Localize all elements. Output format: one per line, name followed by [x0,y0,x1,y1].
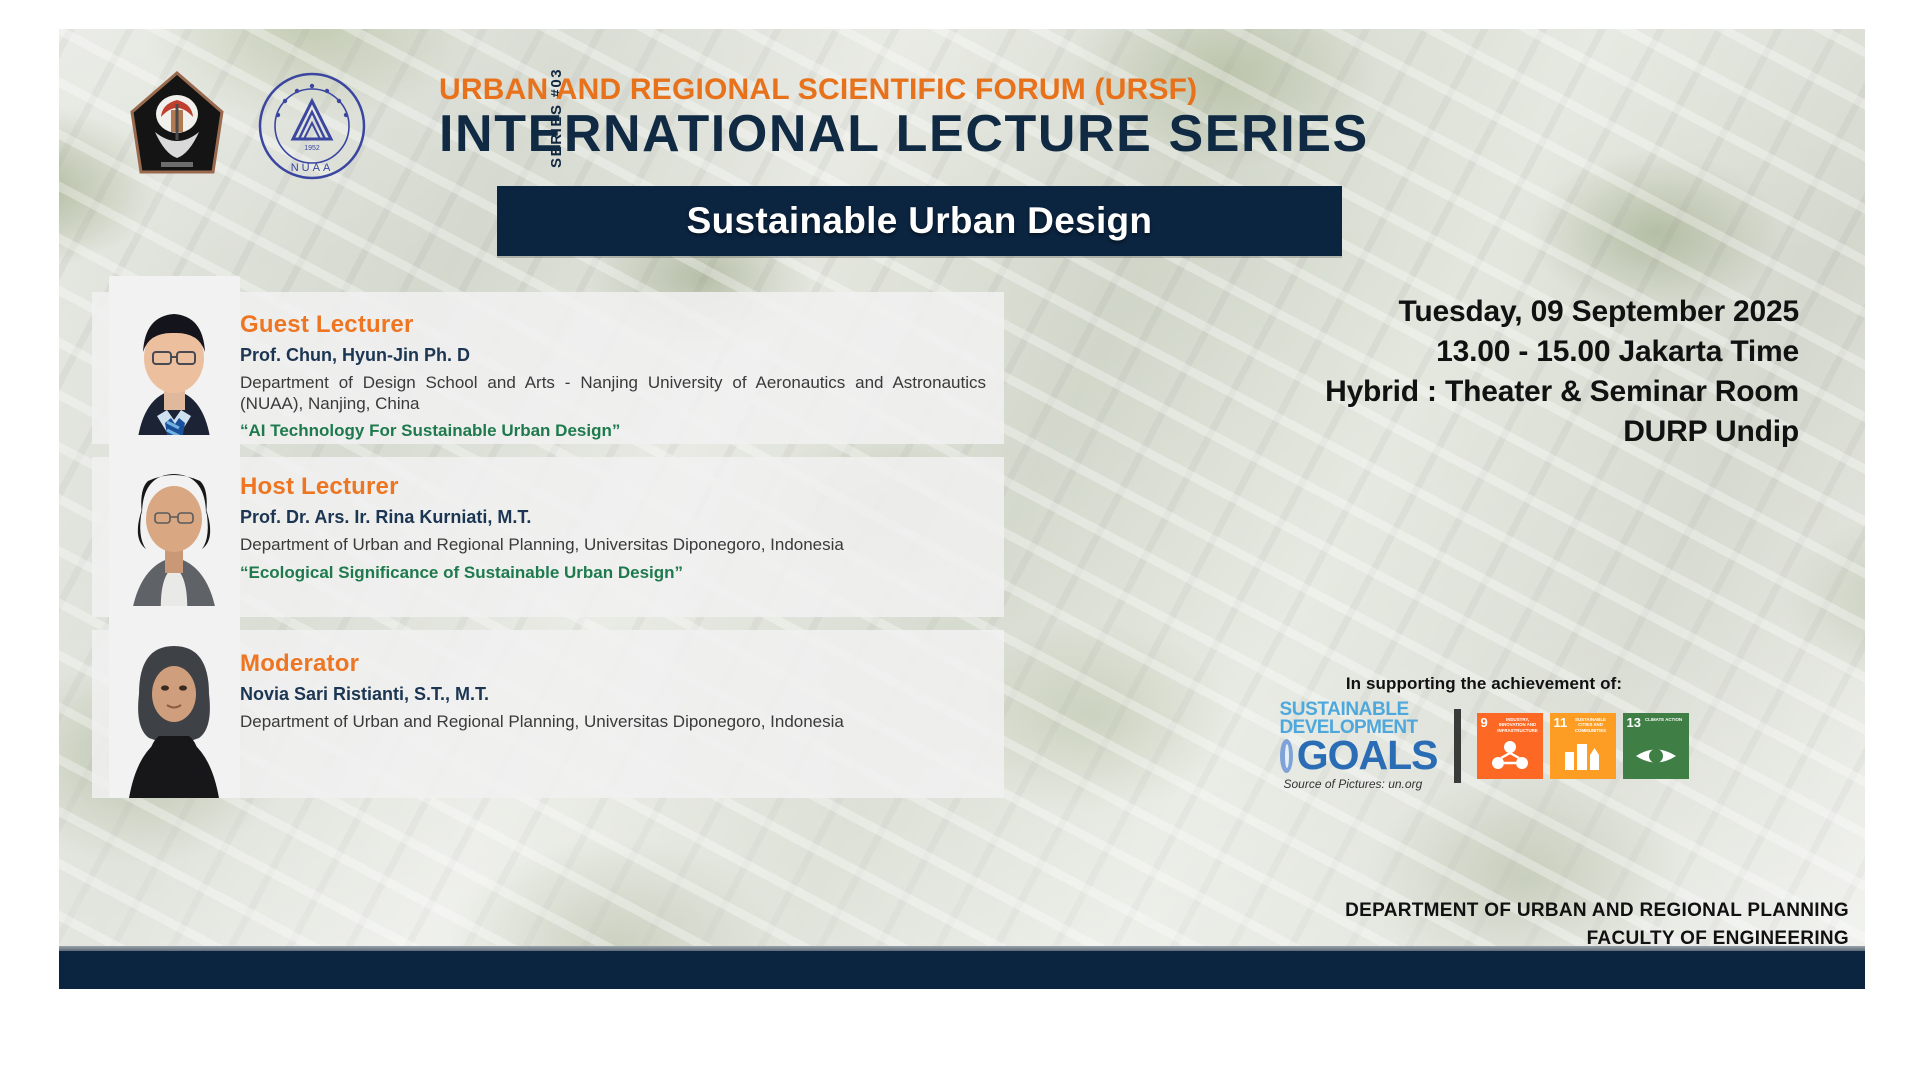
forum-kicker: URBAN AND REGIONAL SCIENTIFIC FORUM (URS… [439,74,1539,106]
sdg-goal-label: CLIMATE ACTION [1642,717,1686,722]
screenshot-canvas: 1952 NUAA SERIES #03 URBAN AND REGIONAL … [0,0,1921,1081]
poster-title: INTERNATIONAL LECTURE SERIES [439,108,1539,161]
speaker-name: Prof. Dr. Ars. Ir. Rina Kurniati, M.T. [240,507,986,528]
speaker-role: Host Lecturer [240,473,986,501]
svg-text:1952: 1952 [304,145,320,152]
footer-bar [59,951,1865,989]
speaker-affiliation: Department of Urban and Regional Plannin… [240,535,986,556]
nuaa-logo: 1952 NUAA [257,71,367,181]
sdg-goal-13-tile: 13 CLIMATE ACTION [1623,713,1689,779]
united-nations-emblem-icon [1280,739,1293,773]
sdg-goal-11-tile: 11 SUSTAINABLE CITIES AND COMMUNITIES [1550,713,1616,779]
sdg-logo-line3: GOALS [1280,737,1438,774]
sdg-goals-text: GOALS [1297,737,1438,774]
sdg-goal-number: 9 [1481,716,1488,729]
sdg-goal-label: SUSTAINABLE CITIES AND COMMUNITIES [1569,717,1613,733]
speaker-name: Prof. Chun, Hyun-Jin Ph. D [240,345,986,366]
speaker-details: Guest Lecturer Prof. Chun, Hyun-Jin Ph. … [240,292,1004,455]
sdg-goal-label: INDUSTRY, INNOVATION AND INFRASTRUCTURE [1496,717,1540,733]
event-date: Tuesday, 09 September 2025 [1049,292,1799,332]
speaker-photo-guest-lecturer [109,276,240,444]
sdg-heading: In supporting the achievement of: [1089,674,1865,694]
speaker-affiliation: Department of Urban and Regional Plannin… [240,712,986,733]
speaker-details: Moderator Novia Sari Ristianti, S.T., M.… [240,630,1004,754]
lecture-topic-banner: Sustainable Urban Design [497,186,1342,256]
sustainable-cities-icon [1550,738,1616,775]
climate-action-icon [1623,742,1689,775]
speaker-role: Guest Lecturer [240,311,986,339]
speaker-role: Moderator [240,650,986,678]
speaker-topic: “AI Technology For Sustainable Urban Des… [240,421,986,441]
speaker-affiliation: Department of Design School and Arts - N… [240,373,986,414]
event-venue: DURP Undip [1049,412,1799,452]
speaker-card-host-lecturer: Host Lecturer Prof. Dr. Ars. Ir. Rina Ku… [92,457,1004,617]
speaker-details: Host Lecturer Prof. Dr. Ars. Ir. Rina Ku… [240,457,1004,597]
industry-innovation-icon [1477,740,1543,775]
sdg-goal-tiles: 9 INDUSTRY, INNOVATION AND INFRASTRUCTUR… [1477,713,1689,779]
event-details-block: Tuesday, 09 September 2025 13.00 - 15.00… [1049,292,1849,452]
organizer-line-1: DEPARTMENT OF URBAN AND REGIONAL PLANNIN… [1049,897,1849,925]
speaker-photo-moderator [109,606,240,798]
speaker-card-list: Guest Lecturer Prof. Chun, Hyun-Jin Ph. … [92,292,1004,811]
sdg-row: SUSTAINABLE DEVELOPMENT GOALS Source of … [1089,701,1865,791]
svg-text:NUAA: NUAA [291,162,334,174]
vertical-divider [1454,709,1461,783]
sdg-goal-9-tile: 9 INDUSTRY, INNOVATION AND INFRASTRUCTUR… [1477,713,1543,779]
speaker-card-moderator: Moderator Novia Sari Ristianti, S.T., M.… [92,630,1004,798]
speaker-photo-host-lecturer [109,435,240,617]
sdg-source-note: Source of Pictures: un.org [1280,777,1438,791]
sdg-goal-number: 11 [1554,716,1568,729]
speaker-topic: “Ecological Significance of Sustainable … [240,563,986,583]
event-mode: Hybrid : Theater & Seminar Room [1049,372,1799,412]
lecture-topic-banner-text: Sustainable Urban Design [687,200,1153,242]
poster-header-text: URBAN AND REGIONAL SCIENTIFIC FORUM (URS… [439,74,1539,161]
speaker-name: Novia Sari Ristianti, S.T., M.T. [240,684,986,705]
event-poster: 1952 NUAA SERIES #03 URBAN AND REGIONAL … [59,29,1865,989]
logo-row: 1952 NUAA [125,70,367,182]
speaker-card-guest-lecturer: Guest Lecturer Prof. Chun, Hyun-Jin Ph. … [92,292,1004,444]
sdg-wordmark-logo: SUSTAINABLE DEVELOPMENT GOALS Source of … [1280,701,1438,791]
sdg-goal-number: 13 [1627,716,1641,729]
universitas-diponegoro-logo [125,70,229,182]
event-schedule: Tuesday, 09 September 2025 13.00 - 15.00… [1049,292,1849,452]
event-time: 13.00 - 15.00 Jakarta Time [1049,332,1799,372]
sdg-support-block: In supporting the achievement of: SUSTAI… [1089,674,1865,791]
